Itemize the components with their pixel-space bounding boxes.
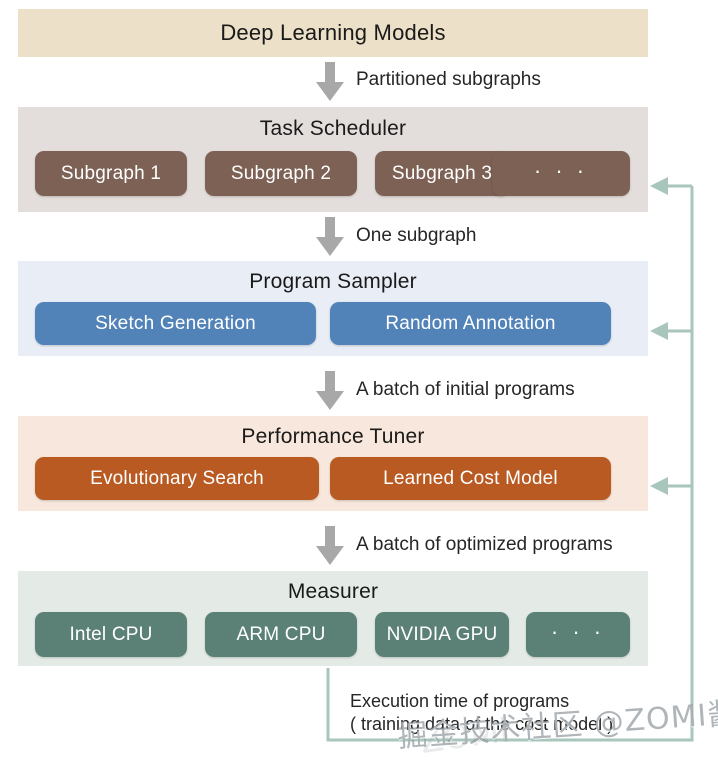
flow-label-optimized-programs: A batch of optimized programs — [356, 534, 613, 556]
flow-label-initial-programs: A batch of initial programs — [356, 379, 575, 401]
models-title: Deep Learning Models — [18, 20, 648, 46]
feedback-arrow-sampler — [650, 322, 692, 340]
section-deep-learning-models: Deep Learning Models — [18, 9, 648, 57]
chip-subgraph-1[interactable]: Subgraph 1 — [35, 151, 187, 196]
flow-diagram: Deep Learning Models Task Scheduler Subg… — [0, 0, 718, 758]
flow-arrow-optimized-programs — [316, 526, 344, 565]
section-performance-tuner: Performance Tuner Evolutionary Search Le… — [18, 416, 648, 511]
chip-subgraph-3[interactable]: Subgraph 3 — [375, 151, 509, 196]
chip-learned-cost-model[interactable]: Learned Cost Model — [330, 457, 611, 500]
feedback-caption-line1: Execution time of programs — [350, 690, 569, 713]
feedback-arrow-tuner — [650, 477, 692, 495]
chip-evolutionary-search[interactable]: Evolutionary Search — [35, 457, 319, 500]
chip-random-annotation[interactable]: Random Annotation — [330, 302, 611, 345]
measurer-title: Measurer — [18, 580, 648, 604]
feedback-caption-line2: ( training data of the cost model ) — [350, 713, 613, 736]
feedback-arrow-scheduler — [650, 177, 692, 195]
scheduler-title: Task Scheduler — [18, 117, 648, 141]
chip-nvidia-gpu[interactable]: NVIDIA GPU — [375, 612, 509, 657]
flow-arrow-initial-programs — [316, 371, 344, 410]
chip-measurer-more[interactable]: · · · — [526, 612, 630, 657]
flow-arrow-one-subgraph — [316, 217, 344, 256]
flow-label-partitioned-subgraphs: Partitioned subgraphs — [356, 69, 541, 91]
chip-intel-cpu[interactable]: Intel CPU — [35, 612, 187, 657]
flow-label-one-subgraph: One subgraph — [356, 225, 476, 247]
chip-arm-cpu[interactable]: ARM CPU — [205, 612, 357, 657]
sampler-title: Program Sampler — [18, 270, 648, 294]
chip-subgraph-more[interactable]: · · · — [492, 151, 630, 196]
section-measurer: Measurer Intel CPU ARM CPU NVIDIA GPU · … — [18, 571, 648, 666]
section-task-scheduler: Task Scheduler Subgraph 1 Subgraph 2 Sub… — [18, 107, 648, 212]
tuner-title: Performance Tuner — [18, 425, 648, 449]
flow-arrow-partitioned — [316, 62, 344, 101]
chip-sketch-generation[interactable]: Sketch Generation — [35, 302, 316, 345]
section-program-sampler: Program Sampler Sketch Generation Random… — [18, 261, 648, 356]
chip-subgraph-2[interactable]: Subgraph 2 — [205, 151, 357, 196]
